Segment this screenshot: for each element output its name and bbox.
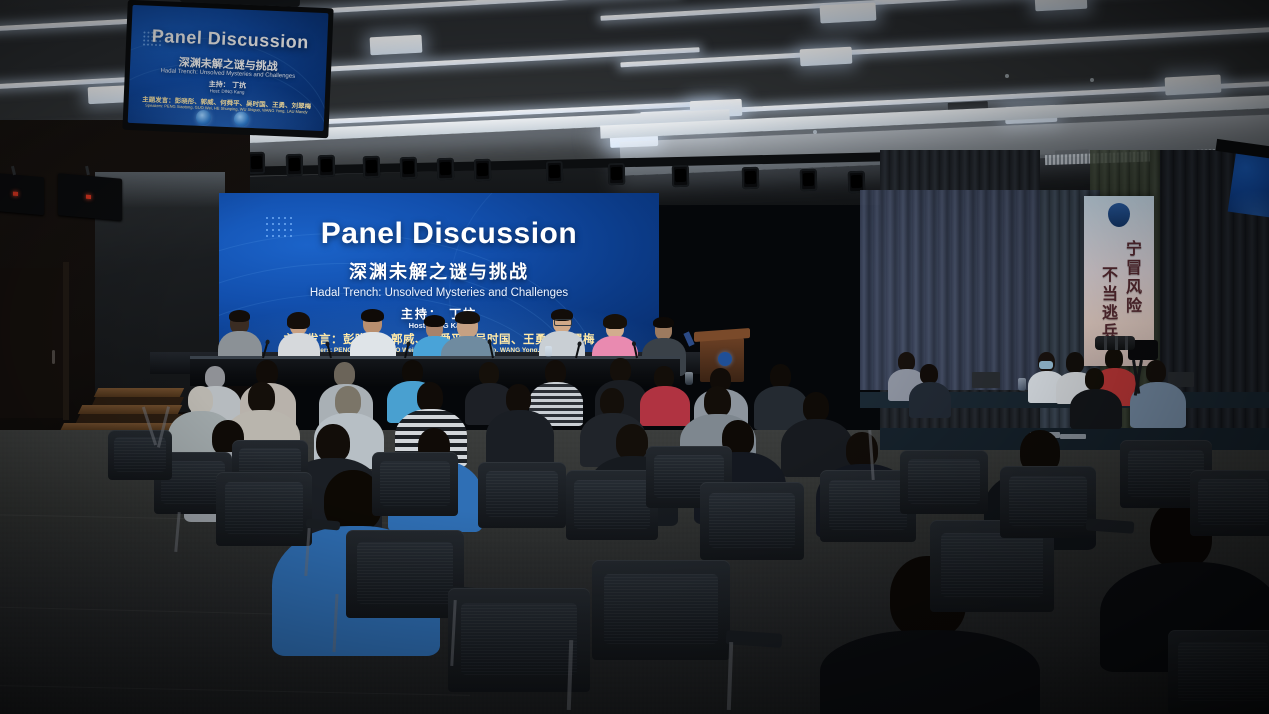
- stage-light-fixture: [437, 158, 454, 180]
- speaker-power-led: [86, 195, 91, 199]
- preview-monitor-assembly: Panel Discussion 深渊未解之谜与挑战 Hadal Trench:…: [122, 0, 334, 144]
- water-bottle: [685, 372, 693, 385]
- ceiling-panel-light: [820, 3, 877, 24]
- water-bottle: [545, 346, 552, 357]
- laptop: [972, 372, 1000, 388]
- stage-light-fixture: [800, 169, 817, 191]
- wall-mounted-speaker: [0, 173, 44, 216]
- ceiling-sensor: [1005, 74, 1009, 78]
- main-subtitle-cn: 深渊未解之谜与挑战: [219, 258, 659, 284]
- stage-light-fixture: [672, 165, 689, 187]
- banner-emblem: [1108, 203, 1130, 227]
- auditorium-chair[interactable]: [566, 470, 658, 540]
- panelist-glasses: [554, 319, 572, 326]
- stage-light-fixture: [400, 157, 417, 179]
- auditorium-chair[interactable]: [346, 530, 464, 618]
- door-handle[interactable]: [52, 350, 55, 364]
- auditorium-chair[interactable]: [900, 450, 988, 514]
- stage-light-fixture: [474, 159, 491, 181]
- auditorium-chair[interactable]: [1168, 630, 1269, 714]
- auditorium-chair[interactable]: [216, 472, 312, 546]
- auditorium-chair[interactable]: [1000, 466, 1096, 538]
- auditorium-chair[interactable]: [700, 482, 804, 560]
- water-bottle: [1018, 378, 1026, 391]
- main-subtitle-en: Hadal Trench: Unsolved Mysteries and Cha…: [219, 287, 659, 299]
- ceiling-sensor: [1090, 78, 1094, 82]
- preview-monitor-screen: Panel Discussion 深渊未解之谜与挑战 Hadal Trench:…: [128, 5, 329, 131]
- banner-text-right: 宁冒风险: [1120, 240, 1144, 350]
- auditorium-chair[interactable]: [592, 560, 730, 660]
- paper-document: [1060, 434, 1086, 439]
- preview-monitor-bezel: Panel Discussion 深渊未解之谜与挑战 Hadal Trench:…: [122, 0, 333, 138]
- main-title: Panel Discussion: [249, 217, 649, 251]
- auditorium-chair[interactable]: [372, 452, 458, 516]
- auditorium-chair[interactable]: [478, 462, 566, 528]
- stage-light-fixture: [546, 161, 563, 183]
- wall-mounted-speaker: [58, 173, 122, 221]
- stage-light-fixture: [318, 155, 335, 177]
- stage-light-fixture: [286, 154, 303, 176]
- auditorium-chair[interactable]: [1190, 470, 1269, 536]
- speaker-power-led: [13, 192, 18, 196]
- camera-telephoto-lens: [1095, 336, 1135, 350]
- stage-light-fixture: [742, 167, 759, 189]
- ceiling-panel-light: [370, 35, 423, 56]
- stage-light-fixture: [608, 163, 625, 185]
- stage-light-fixture: [248, 152, 265, 174]
- face-mask: [1039, 361, 1053, 369]
- conference-hall-photo: Panel Discussion 深渊未解之谜与挑战 Hadal Trench:…: [0, 0, 1269, 714]
- stage-light-fixture: [363, 156, 380, 178]
- ceiling-panel-light: [800, 47, 853, 67]
- ceiling-panel-light: [1165, 75, 1222, 96]
- lectern-emblem: [718, 352, 732, 366]
- lectern-microphone: [683, 331, 694, 346]
